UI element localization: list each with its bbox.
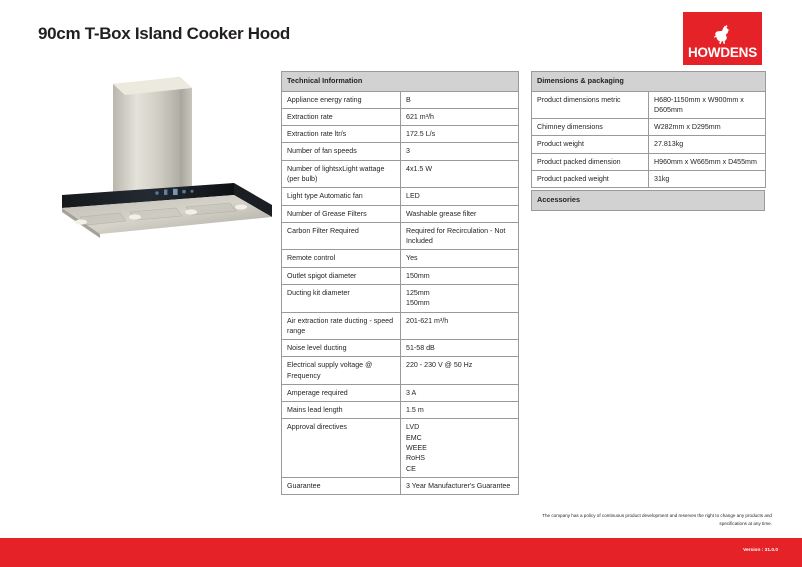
row-value: 172.5 L/s: [401, 126, 519, 143]
table-row: Mains lead length1.5 m: [282, 402, 519, 419]
row-label: Number of fan speeds: [282, 143, 401, 160]
table-row: Number of lightsxLight wattage (per bulb…: [282, 160, 519, 188]
table-row: Ducting kit diameter125mm 150mm: [282, 284, 519, 312]
row-value: H960mm x W665mm x D455mm: [649, 153, 766, 170]
row-label: Outlet spigot diameter: [282, 267, 401, 284]
product-image: [34, 62, 284, 262]
technical-information-heading: Technical Information: [282, 72, 519, 92]
row-label: Mains lead length: [282, 402, 401, 419]
table-row: Product packed dimensionH960mm x W665mm …: [532, 153, 766, 170]
row-label: Product dimensions metric: [532, 91, 649, 119]
row-label: Amperage required: [282, 384, 401, 401]
table-row: Product dimensions metricH680-1150mm x W…: [532, 91, 766, 119]
table-row: Number of fan speeds3: [282, 143, 519, 160]
row-value: 31kg: [649, 170, 766, 187]
table-row: Air extraction rate ducting - speed rang…: [282, 312, 519, 340]
row-label: Approval directives: [282, 419, 401, 477]
dimensions-packaging-table: Dimensions & packaging Product dimension…: [531, 71, 766, 188]
row-value: 1.5 m: [401, 402, 519, 419]
table-row: Noise level ducting51-58 dB: [282, 340, 519, 357]
row-value: W282mm x D295mm: [649, 119, 766, 136]
table-row: Extraction rate ltr/s172.5 L/s: [282, 126, 519, 143]
row-value: 220 - 230 V @ 50 Hz: [401, 357, 519, 385]
row-value: LED: [401, 188, 519, 205]
row-label: Light type Automatic fan: [282, 188, 401, 205]
table-row: Chimney dimensionsW282mm x D295mm: [532, 119, 766, 136]
row-value: 125mm 150mm: [401, 284, 519, 312]
row-label: Carbon Filter Required: [282, 222, 401, 250]
row-value: 3 Year Manufacturer's Guarantee: [401, 477, 519, 494]
cockerel-icon: [712, 25, 734, 45]
table-row: Light type Automatic fanLED: [282, 188, 519, 205]
table-row: Remote controlYes: [282, 250, 519, 267]
accessories-table: Accessories: [531, 190, 765, 211]
table-row: Approval directivesLVD EMC WEEE RoHS CE: [282, 419, 519, 477]
row-value: 201-621 m³/h: [401, 312, 519, 340]
table-row: Electrical supply voltage @ Frequency220…: [282, 357, 519, 385]
table-row: Product weight27.813kg: [532, 136, 766, 153]
table-row: Amperage required3 A: [282, 384, 519, 401]
row-label: Product packed dimension: [532, 153, 649, 170]
table-row: Outlet spigot diameter150mm: [282, 267, 519, 284]
row-label: Air extraction rate ducting - speed rang…: [282, 312, 401, 340]
table-header-row: Dimensions & packaging: [532, 72, 766, 92]
row-label: Appliance energy rating: [282, 91, 401, 108]
accessories-heading: Accessories: [532, 191, 765, 211]
dimensions-packaging-heading: Dimensions & packaging: [532, 72, 766, 92]
row-value: 27.813kg: [649, 136, 766, 153]
page-title: 90cm T-Box Island Cooker Hood: [38, 24, 290, 44]
row-value: 3: [401, 143, 519, 160]
version-label: Version : 31.0.0: [743, 548, 778, 553]
table-row: Number of Grease FiltersWashable grease …: [282, 205, 519, 222]
row-label: Ducting kit diameter: [282, 284, 401, 312]
row-label: Electrical supply voltage @ Frequency: [282, 357, 401, 385]
row-label: Number of lightsxLight wattage (per bulb…: [282, 160, 401, 188]
row-value: 4x1.5 W: [401, 160, 519, 188]
row-value: LVD EMC WEEE RoHS CE: [401, 419, 519, 477]
row-label: Guarantee: [282, 477, 401, 494]
product-spec-sheet: 90cm T-Box Island Cooker Hood HOWDENS: [0, 0, 802, 567]
dimensions-packaging-body: Product dimensions metricH680-1150mm x W…: [532, 91, 766, 188]
row-value: 3 A: [401, 384, 519, 401]
logo-wordmark: HOWDENS: [688, 46, 757, 60]
howdens-logo: HOWDENS: [683, 12, 762, 65]
row-value: 51-58 dB: [401, 340, 519, 357]
disclaimer-text: The company has a policy of continuous p…: [542, 512, 772, 528]
row-value: 621 m³/h: [401, 108, 519, 125]
table-row: Guarantee3 Year Manufacturer's Guarantee: [282, 477, 519, 494]
technical-information-body: Appliance energy ratingB Extraction rate…: [282, 91, 519, 495]
table-row: Product packed weight31kg: [532, 170, 766, 187]
row-label: Noise level ducting: [282, 340, 401, 357]
row-value: B: [401, 91, 519, 108]
row-label: Number of Grease Filters: [282, 205, 401, 222]
row-value: H680-1150mm x W900mm x D605mm: [649, 91, 766, 119]
row-label: Extraction rate: [282, 108, 401, 125]
technical-information-table: Technical Information Appliance energy r…: [281, 71, 519, 495]
row-label: Chimney dimensions: [532, 119, 649, 136]
table-row: Appliance energy ratingB: [282, 91, 519, 108]
row-label: Product weight: [532, 136, 649, 153]
footer-bar: [0, 538, 802, 567]
row-label: Product packed weight: [532, 170, 649, 187]
row-label: Extraction rate ltr/s: [282, 126, 401, 143]
row-label: Remote control: [282, 250, 401, 267]
table-row: Carbon Filter RequiredRequired for Recir…: [282, 222, 519, 250]
table-row: Extraction rate621 m³/h: [282, 108, 519, 125]
table-header-row: Technical Information: [282, 72, 519, 92]
row-value: Yes: [401, 250, 519, 267]
row-value: Required for Recirculation - Not Include…: [401, 222, 519, 250]
row-value: Washable grease filter: [401, 205, 519, 222]
row-value: 150mm: [401, 267, 519, 284]
table-header-row: Accessories: [532, 191, 765, 211]
